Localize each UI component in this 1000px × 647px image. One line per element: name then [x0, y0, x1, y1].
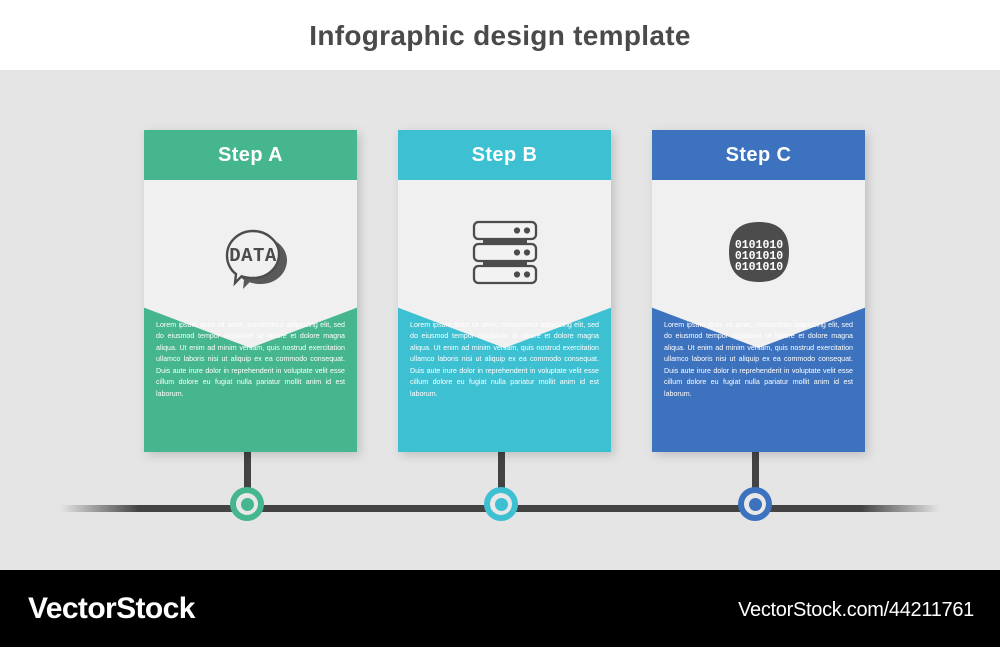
step-a-header: Step A [144, 130, 357, 180]
step-a-icon-area: DATA [144, 180, 357, 320]
marker-gap-c [744, 493, 766, 515]
page-title: Infographic design template [0, 20, 1000, 52]
server-rack-icon [462, 210, 548, 290]
vectorstock-logo: VectorStock [28, 592, 195, 626]
step-b-description: Lorem ipsum dolor sit amet, consectetur … [398, 304, 611, 452]
step-b-header: Step B [398, 130, 611, 180]
marker-ring-b [484, 487, 518, 521]
marker-gap-a [236, 493, 258, 515]
marker-gap-b [490, 493, 512, 515]
timeline-marker-b[interactable] [484, 487, 518, 521]
timeline-marker-c[interactable] [738, 487, 772, 521]
data-speech-bubble-icon: DATA [205, 210, 297, 290]
marker-dot-a [241, 498, 254, 511]
step-a-body: DATA Lorem ipsum dolor sit amet, consect… [144, 180, 357, 452]
step-c-icon-area: 0101010 0101010 0101010 [652, 180, 865, 320]
timeline-marker-a[interactable] [230, 487, 264, 521]
step-b-icon-area [398, 180, 611, 320]
marker-ring-a [230, 487, 264, 521]
step-panel-b[interactable]: Step B Lorem ipsum dolor sit amet, conse… [398, 130, 611, 452]
step-b-body: Lorem ipsum dolor sit amet, consectetur … [398, 180, 611, 452]
step-c-body: 0101010 0101010 0101010 Lorem ipsum dolo… [652, 180, 865, 452]
header-band: Infographic design template [0, 0, 1000, 70]
step-panel-a[interactable]: Step A DATA Lorem ipsum dolor sit amet, … [144, 130, 357, 452]
footer-bar: VectorStock VectorStock.com/44211761 [0, 570, 1000, 647]
binary-row-3: 0101010 [734, 261, 782, 274]
step-c-header: Step C [652, 130, 865, 180]
step-panel-c[interactable]: Step C 0101010 0101010 0101010 Lorem ips… [652, 130, 865, 452]
marker-dot-b [495, 498, 508, 511]
binary-code-icon: 0101010 0101010 0101010 [717, 210, 801, 290]
step-a-description: Lorem ipsum dolor sit amet, consectetur … [144, 304, 357, 452]
marker-ring-c [738, 487, 772, 521]
marker-dot-c [749, 498, 762, 511]
step-c-description: Lorem ipsum dolor sit amet, consectetur … [652, 304, 865, 452]
vectorstock-url: VectorStock.com/44211761 [738, 599, 974, 622]
svg-text:DATA: DATA [229, 245, 277, 267]
